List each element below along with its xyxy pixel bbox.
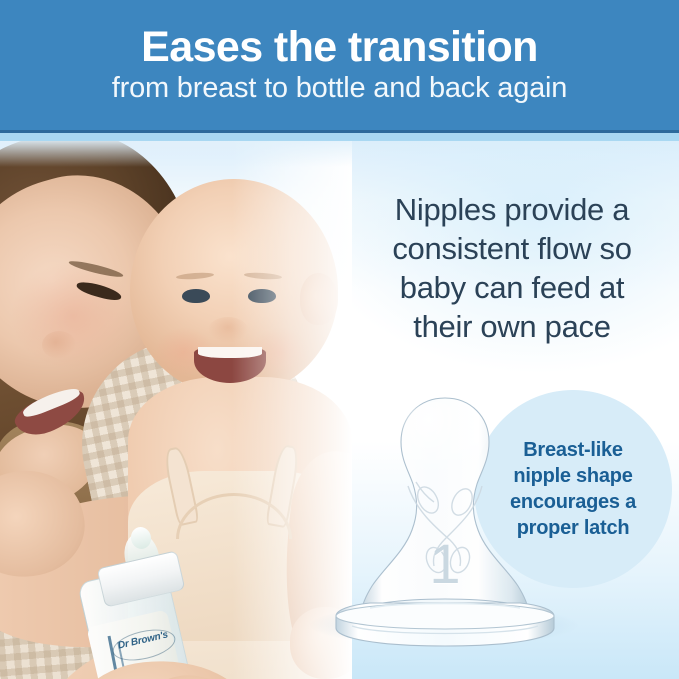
banner-subtitle: from breast to bottle and back again xyxy=(112,73,567,103)
banner-light-strip xyxy=(0,133,679,141)
photo-top-fade xyxy=(0,141,352,167)
header-banner: Eases the transition from breast to bott… xyxy=(0,0,679,130)
nipple-base-top xyxy=(336,603,554,629)
feature-line-3: baby can feed at xyxy=(352,268,672,307)
nipple-bulb-highlight xyxy=(400,402,468,482)
feature-line-4: their own pace xyxy=(352,307,672,346)
promotional-product-infographic: Eases the transition from breast to bott… xyxy=(0,0,679,679)
baby-eye-left xyxy=(182,289,210,303)
product-nipple-image: 1 xyxy=(300,390,590,660)
mother-cheek xyxy=(10,261,136,371)
feature-line-2: consistent flow so xyxy=(352,229,672,268)
feature-line-1: Nipples provide a xyxy=(352,190,672,229)
mother-nose xyxy=(42,331,76,359)
nipple-illustration xyxy=(300,390,590,660)
feature-description-text: Nipples provide a consistent flow so bab… xyxy=(352,190,672,346)
banner-title: Eases the transition xyxy=(141,26,538,73)
nipple-flow-level-number: 1 xyxy=(300,536,590,592)
